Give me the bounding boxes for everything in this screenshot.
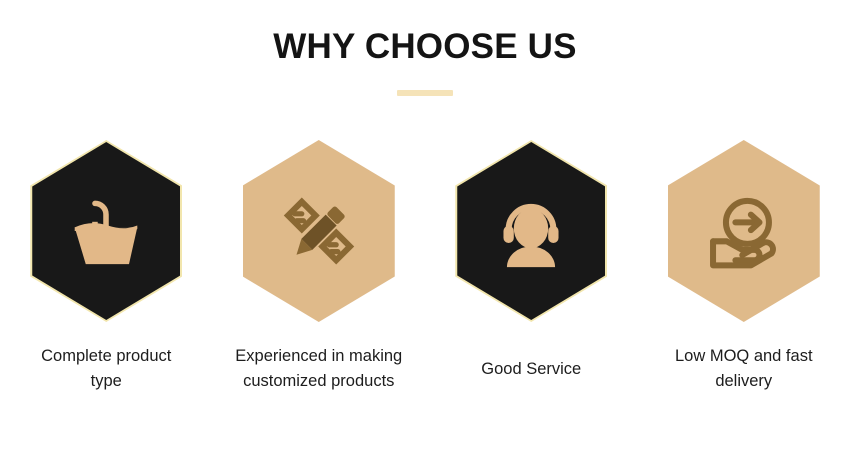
page-title: WHY CHOOSE US xyxy=(0,26,850,68)
hand-delivery-arrow-icon xyxy=(696,183,792,279)
caption-line-1: Complete product xyxy=(41,347,171,365)
feature-caption: Experienced in making customized product… xyxy=(224,344,414,394)
feature-item-good-service[interactable]: Good Service xyxy=(425,140,638,382)
bathtub-icon xyxy=(58,183,154,279)
title-divider xyxy=(397,90,453,96)
feature-list: Complete product type xyxy=(0,140,850,394)
feature-item-complete-product-type[interactable]: Complete product type xyxy=(0,140,213,394)
feature-caption: Low MOQ and fast delivery xyxy=(649,344,839,394)
hexagon-badge-dark xyxy=(30,140,182,322)
caption-line-1: Low MOQ and fast xyxy=(675,347,813,365)
section-header: WHY CHOOSE US xyxy=(0,26,850,96)
caption-line-2: customized products xyxy=(243,372,394,390)
why-choose-us-section: WHY CHOOSE US Complete pr xyxy=(0,0,850,450)
caption-line-1: Good Service xyxy=(481,360,581,378)
feature-caption: Good Service xyxy=(436,344,626,382)
caption-line-2: type xyxy=(91,372,122,390)
feature-item-experienced-customized-products[interactable]: Experienced in making customized product… xyxy=(213,140,426,394)
headset-agent-icon xyxy=(483,183,579,279)
hexagon-badge-dark xyxy=(455,140,607,322)
caption-line-1: Experienced in making xyxy=(235,347,402,365)
feature-caption: Complete product type xyxy=(11,344,201,394)
pencil-ruler-icon xyxy=(271,183,367,279)
hexagon-badge-light xyxy=(668,140,820,322)
caption-line-2: delivery xyxy=(715,372,772,390)
feature-item-low-moq-fast-delivery[interactable]: Low MOQ and fast delivery xyxy=(638,140,850,394)
hexagon-badge-light xyxy=(243,140,395,322)
